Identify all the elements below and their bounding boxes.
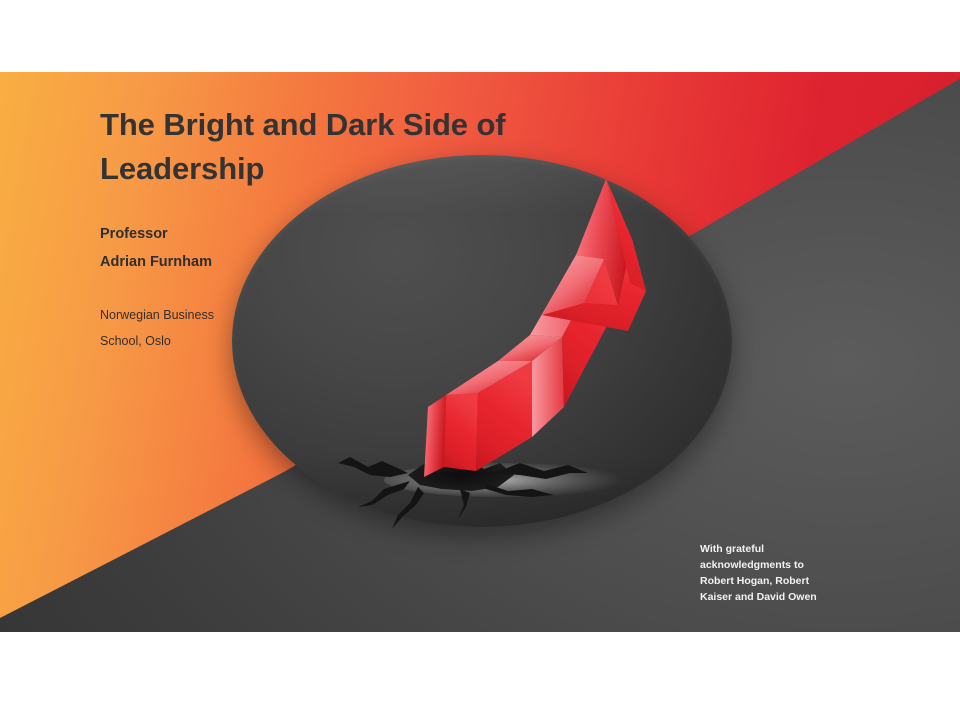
slide-canvas: The Bright and Dark Side of Leadership P… <box>0 0 960 720</box>
acknowledgment-line-3: Robert Hogan, Robert <box>700 574 860 590</box>
acknowledgment-block: With grateful acknowledgments to Robert … <box>700 542 860 606</box>
affiliation-line-2: School, Oslo <box>100 329 310 355</box>
presentation-slide: The Bright and Dark Side of Leadership P… <box>0 72 960 632</box>
acknowledgment-line-1: With grateful <box>700 542 860 558</box>
page-title: The Bright and Dark Side of Leadership <box>100 103 580 191</box>
presenter-name: Adrian Furnham <box>100 248 330 276</box>
affiliation-line-1: Norwegian Business <box>100 303 310 329</box>
arrow-stem-side <box>424 395 446 477</box>
acknowledgment-line-4: Kaiser and David Owen <box>700 590 860 606</box>
arrow-stem-face <box>444 393 478 471</box>
presenter-block: Professor Adrian Furnham <box>100 220 330 277</box>
presenter-role: Professor <box>100 220 330 248</box>
title-block: The Bright and Dark Side of Leadership <box>100 103 580 191</box>
zigzag-rising-arrow <box>424 179 646 477</box>
acknowledgment-line-2: acknowledgments to <box>700 558 860 574</box>
affiliation-block: Norwegian Business School, Oslo <box>100 303 310 354</box>
